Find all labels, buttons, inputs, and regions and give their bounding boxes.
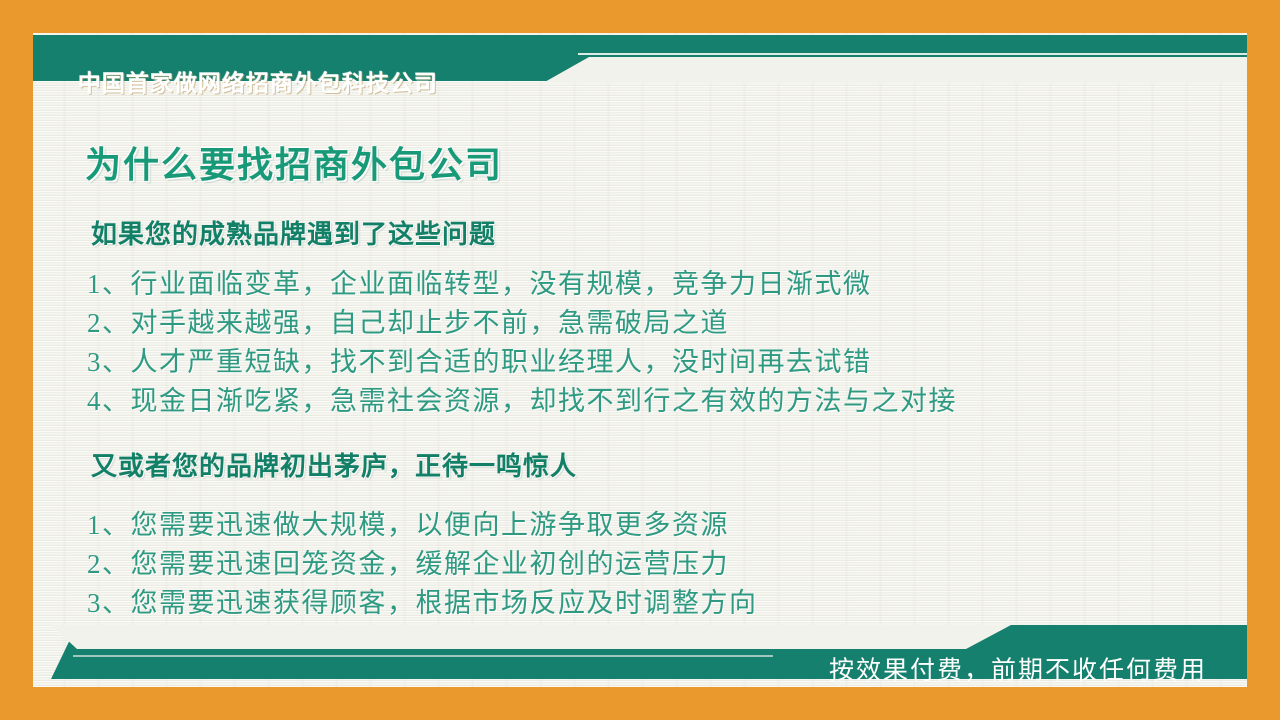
header-band-notch <box>543 57 1247 83</box>
list-item: 4、现金日渐吃紧，急需社会资源，却找不到行之有效的方法与之对接 <box>87 382 957 421</box>
list-item: 3、人才严重短缺，找不到合适的职业经理人，没时间再去试错 <box>87 343 957 382</box>
slide-root: 中国首家做网络招商外包科技公司 为什么要找招商外包公司 如果您的成熟品牌遇到了这… <box>0 0 1280 720</box>
problem-list: 1、行业面临变革，企业面临转型，没有规模，竞争力日渐式微 2、对手越来越强，自己… <box>87 265 957 421</box>
header-divider-line <box>578 53 1247 55</box>
list-item: 3、您需要迅速获得顾客，根据市场反应及时调整方向 <box>87 584 758 623</box>
list-item: 2、您需要迅速回笼资金，缓解企业初创的运营压力 <box>87 545 758 584</box>
paper-panel: 中国首家做网络招商外包科技公司 为什么要找招商外包公司 如果您的成熟品牌遇到了这… <box>33 33 1247 687</box>
footer-tagline: 按效果付费，前期不收任何费用 <box>829 659 1207 684</box>
footer-divider-line <box>73 655 773 657</box>
footer-band-notch <box>51 625 1011 649</box>
section-heading-problems: 如果您的成熟品牌遇到了这些问题 <box>91 221 496 247</box>
section-heading-startup: 又或者您的品牌初出茅庐，正待一鸣惊人 <box>91 453 577 479</box>
list-item: 1、行业面临变革，企业面临转型，没有规模，竞争力日渐式微 <box>87 265 957 304</box>
list-item: 2、对手越来越强，自己却止步不前，急需破局之道 <box>87 304 957 343</box>
header-tagline: 中国首家做网络招商外包科技公司 <box>78 72 438 95</box>
list-item: 1、您需要迅速做大规模，以便向上游争取更多资源 <box>87 506 758 545</box>
page-title: 为什么要找招商外包公司 <box>85 147 503 183</box>
main-content: 为什么要找招商外包公司 如果您的成熟品牌遇到了这些问题 1、行业面临变革，企业面… <box>33 33 1247 687</box>
